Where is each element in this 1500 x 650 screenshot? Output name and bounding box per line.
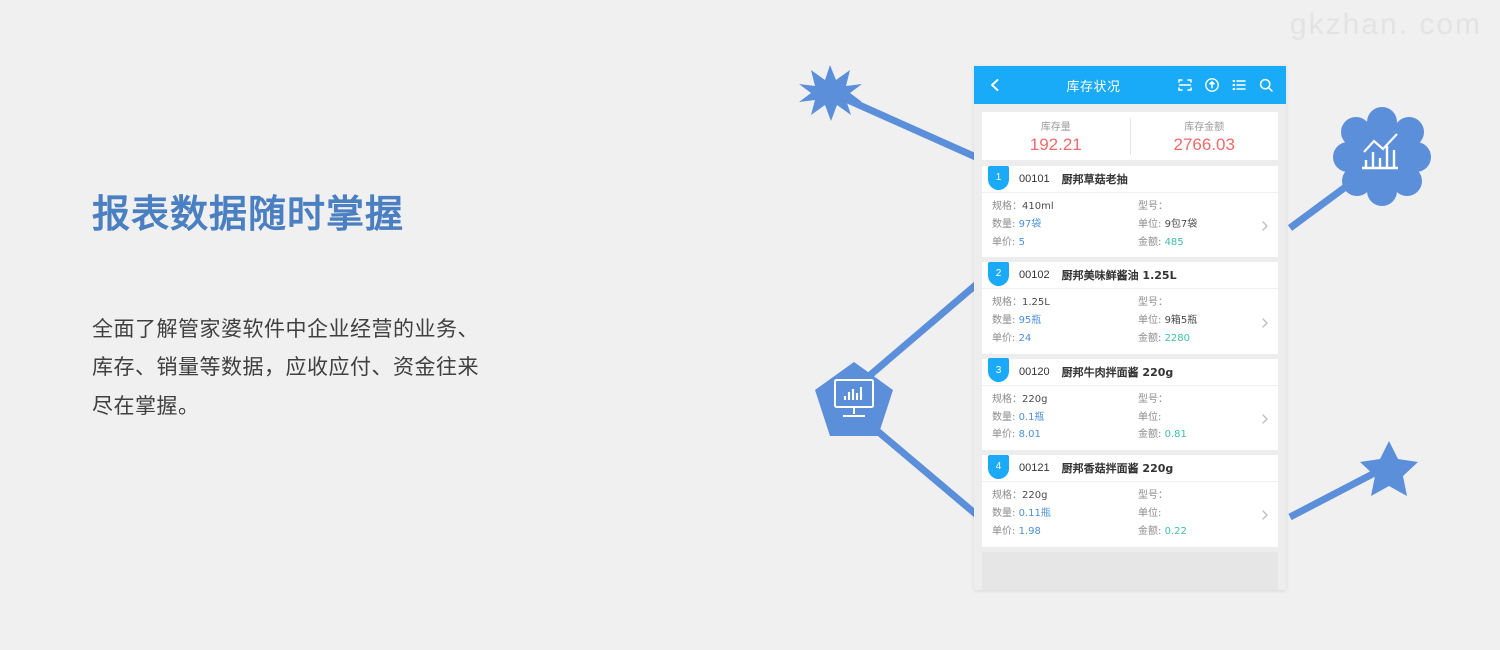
detail-unit: 单位: 9箱5瓶 <box>1138 312 1278 330</box>
inventory-list: 1 00101 厨邦草菇老抽 规格：410ml 数量: 97袋 单价: 5 型号… <box>982 166 1278 547</box>
summary-value: 2766.03 <box>1131 135 1279 155</box>
detail-spec: 规格：220g <box>992 391 1130 409</box>
detail-label: 单价: <box>992 237 1015 248</box>
item-name: 厨邦香菇拌面酱 220g <box>1062 460 1174 476</box>
rank-badge: 2 <box>988 262 1009 286</box>
promo-copy: 报表数据随时掌握 全面了解管家婆软件中企业经营的业务、 库存、销量等数据，应收应… <box>92 192 612 426</box>
detail-label: 数量: <box>992 508 1015 519</box>
detail-qty: 数量: 95瓶 <box>992 312 1130 330</box>
list-footer-spacer <box>982 552 1278 590</box>
detail-label: 金额: <box>1138 429 1161 440</box>
app-title: 库存状况 <box>1004 76 1177 95</box>
detail-label: 规格： <box>992 394 1022 405</box>
detail-label: 金额: <box>1138 333 1161 344</box>
list-item-details: 规格：1.25L 数量: 95瓶 单价: 24 型号： 单位: 9箱5瓶 金额:… <box>982 289 1278 353</box>
detail-value: 2280 <box>1165 333 1190 344</box>
promo-paragraph-line: 尽在掌握。 <box>92 387 612 426</box>
chevron-right-icon[interactable] <box>1259 219 1271 231</box>
detail-value: 95瓶 <box>1019 315 1042 326</box>
detail-label: 数量: <box>992 219 1015 230</box>
detail-value: 0.22 <box>1165 526 1187 537</box>
detail-value: 410ml <box>1022 201 1054 212</box>
site-watermark: gkzhan. com <box>1290 8 1482 42</box>
detail-value: 0.11瓶 <box>1019 508 1051 519</box>
starburst-icon <box>799 65 862 121</box>
detail-price: 单价: 1.98 <box>992 523 1130 541</box>
detail-amount: 金额: 0.22 <box>1138 523 1278 541</box>
detail-column-left: 规格：1.25L 数量: 95瓶 单价: 24 <box>982 294 1130 347</box>
detail-value: 24 <box>1019 333 1032 344</box>
list-item-header: 4 00121 厨邦香菇拌面酱 220g <box>982 455 1278 482</box>
detail-column-left: 规格：220g 数量: 0.1瓶 单价: 8.01 <box>982 391 1130 444</box>
page-title: 报表数据随时掌握 <box>92 192 612 238</box>
connector-line-bottom-right <box>1290 466 1388 517</box>
detail-qty: 数量: 97袋 <box>992 216 1130 234</box>
summary-label: 库存量 <box>982 118 1130 133</box>
connector-line-top-left <box>830 92 978 158</box>
rank-badge: 4 <box>988 455 1009 479</box>
detail-spec: 规格：1.25L <box>992 294 1130 312</box>
detail-value: 8.01 <box>1019 429 1041 440</box>
star-icon <box>1360 441 1418 496</box>
detail-price: 单价: 24 <box>992 330 1130 348</box>
detail-value: 5 <box>1019 237 1025 248</box>
connector-line-mid-upper <box>862 283 978 382</box>
detail-value: 485 <box>1165 237 1184 248</box>
detail-label: 金额: <box>1138 237 1161 248</box>
header-actions <box>1177 77 1274 93</box>
cloud-shape <box>1333 107 1431 206</box>
list-item-details: 规格：220g 数量: 0.1瓶 单价: 8.01 型号： 单位: 金额: 0.… <box>982 386 1278 450</box>
detail-unit: 单位: <box>1138 505 1278 523</box>
detail-label: 型号： <box>1138 394 1168 405</box>
detail-column-right: 型号： 单位: 金额: 0.22 <box>1130 487 1278 540</box>
list-icon[interactable] <box>1231 77 1247 93</box>
item-code: 00102 <box>1019 269 1050 281</box>
monitor-pentagon-badge <box>815 362 893 436</box>
detail-model: 型号： <box>1138 487 1278 505</box>
detail-column-right: 型号： 单位: 9包7袋 金额: 485 <box>1130 198 1278 251</box>
detail-label: 单位: <box>1138 412 1161 423</box>
detail-value: 97袋 <box>1019 219 1042 230</box>
detail-unit: 单位: <box>1138 409 1278 427</box>
detail-label: 规格： <box>992 490 1022 501</box>
promo-paragraph-line: 库存、销量等数据，应收应付、资金往来 <box>92 348 612 387</box>
detail-spec: 规格：410ml <box>992 198 1130 216</box>
chevron-left-icon[interactable] <box>986 76 1004 94</box>
detail-column-left: 规格：220g 数量: 0.11瓶 单价: 1.98 <box>982 487 1130 540</box>
list-item-header: 3 00120 厨邦牛肉拌面酱 220g <box>982 359 1278 386</box>
detail-label: 型号： <box>1138 201 1168 212</box>
item-name: 厨邦草菇老抽 <box>1062 171 1128 187</box>
detail-value: 9包7袋 <box>1165 219 1198 230</box>
summary-label: 库存金额 <box>1131 118 1279 133</box>
app-header: 库存状况 <box>974 66 1286 104</box>
detail-label: 型号： <box>1138 297 1168 308</box>
detail-model: 型号： <box>1138 294 1278 312</box>
phone-mockup: 库存状况 <box>974 66 1286 590</box>
promo-paragraph-line: 全面了解管家婆软件中企业经营的业务、 <box>92 310 612 349</box>
detail-label: 单价: <box>992 526 1015 537</box>
item-code: 00120 <box>1019 366 1050 378</box>
detail-qty: 数量: 0.1瓶 <box>992 409 1130 427</box>
search-icon[interactable] <box>1258 77 1274 93</box>
list-item[interactable]: 3 00120 厨邦牛肉拌面酱 220g 规格：220g 数量: 0.1瓶 单价… <box>982 359 1278 450</box>
detail-spec: 规格：220g <box>992 487 1130 505</box>
connector-line-top-right <box>1290 160 1382 228</box>
item-code: 00121 <box>1019 462 1050 474</box>
scan-icon[interactable] <box>1177 77 1193 93</box>
chevron-right-icon[interactable] <box>1259 316 1271 328</box>
detail-price: 单价: 5 <box>992 234 1130 252</box>
list-item[interactable]: 2 00102 厨邦美味鲜酱油 1.25L 规格：1.25L 数量: 95瓶 单… <box>982 262 1278 353</box>
list-item[interactable]: 1 00101 厨邦草菇老抽 规格：410ml 数量: 97袋 单价: 5 型号… <box>982 166 1278 257</box>
promo-banner: gkzhan. com 报表数据随时掌握 全面了解管家婆软件中企业经营的业务、 … <box>0 0 1500 650</box>
detail-amount: 金额: 485 <box>1138 234 1278 252</box>
item-name: 厨邦美味鲜酱油 1.25L <box>1062 267 1177 283</box>
detail-model: 型号： <box>1138 198 1278 216</box>
detail-value: 1.98 <box>1019 526 1041 537</box>
detail-value: 9箱5瓶 <box>1165 315 1198 326</box>
pentagon-shape <box>815 362 893 436</box>
detail-column-right: 型号： 单位: 9箱5瓶 金额: 2280 <box>1130 294 1278 347</box>
detail-label: 数量: <box>992 412 1015 423</box>
summary-cell-amount: 库存金额 2766.03 <box>1130 118 1279 155</box>
detail-label: 规格： <box>992 201 1022 212</box>
item-code: 00101 <box>1019 173 1050 185</box>
chart-cloud-badge <box>1333 107 1431 206</box>
detail-unit: 单位: 9包7袋 <box>1138 216 1278 234</box>
detail-model: 型号： <box>1138 391 1278 409</box>
detail-label: 单价: <box>992 333 1015 344</box>
summary-value: 192.21 <box>982 135 1130 155</box>
detail-label: 单位: <box>1138 315 1161 326</box>
detail-label: 单位: <box>1138 219 1161 230</box>
detail-qty: 数量: 0.11瓶 <box>992 505 1130 523</box>
list-item-header: 1 00101 厨邦草菇老抽 <box>982 166 1278 193</box>
connector-line-mid-lower <box>862 418 978 516</box>
list-item-details: 规格：220g 数量: 0.11瓶 单价: 1.98 型号： 单位: 金额: 0… <box>982 482 1278 546</box>
list-item-details: 规格：410ml 数量: 97袋 单价: 5 型号： 单位: 9包7袋 金额: … <box>982 193 1278 257</box>
detail-label: 单价: <box>992 429 1015 440</box>
detail-label: 金额: <box>1138 526 1161 537</box>
chevron-right-icon[interactable] <box>1259 412 1271 424</box>
inventory-summary-card: 库存量 192.21 库存金额 2766.03 <box>982 112 1278 160</box>
detail-column-right: 型号： 单位: 金额: 0.81 <box>1130 391 1278 444</box>
item-name: 厨邦牛肉拌面酱 220g <box>1062 364 1174 380</box>
detail-value: 220g <box>1022 490 1047 501</box>
rank-badge: 3 <box>988 358 1009 382</box>
list-item-header: 2 00102 厨邦美味鲜酱油 1.25L <box>982 262 1278 289</box>
detail-label: 数量: <box>992 315 1015 326</box>
summary-cell-quantity: 库存量 192.21 <box>982 118 1130 155</box>
chevron-right-icon[interactable] <box>1259 508 1271 520</box>
detail-value: 1.25L <box>1022 297 1050 308</box>
detail-value: 0.81 <box>1165 429 1187 440</box>
bar-chart-trend-icon <box>1362 134 1398 168</box>
rank-badge: 1 <box>988 166 1009 190</box>
list-item[interactable]: 4 00121 厨邦香菇拌面酱 220g 规格：220g 数量: 0.11瓶 单… <box>982 455 1278 546</box>
detail-label: 单位: <box>1138 508 1161 519</box>
detail-label: 规格： <box>992 297 1022 308</box>
monitor-chart-icon <box>835 380 873 416</box>
detail-amount: 金额: 2280 <box>1138 330 1278 348</box>
detail-value: 220g <box>1022 394 1047 405</box>
promo-paragraph: 全面了解管家婆软件中企业经营的业务、 库存、销量等数据，应收应付、资金往来 尽在… <box>92 310 612 427</box>
detail-value: 0.1瓶 <box>1019 412 1045 423</box>
detail-column-left: 规格：410ml 数量: 97袋 单价: 5 <box>982 198 1130 251</box>
detail-price: 单价: 8.01 <box>992 426 1130 444</box>
detail-label: 型号： <box>1138 490 1168 501</box>
detail-amount: 金额: 0.81 <box>1138 426 1278 444</box>
upload-circle-icon[interactable] <box>1204 77 1220 93</box>
